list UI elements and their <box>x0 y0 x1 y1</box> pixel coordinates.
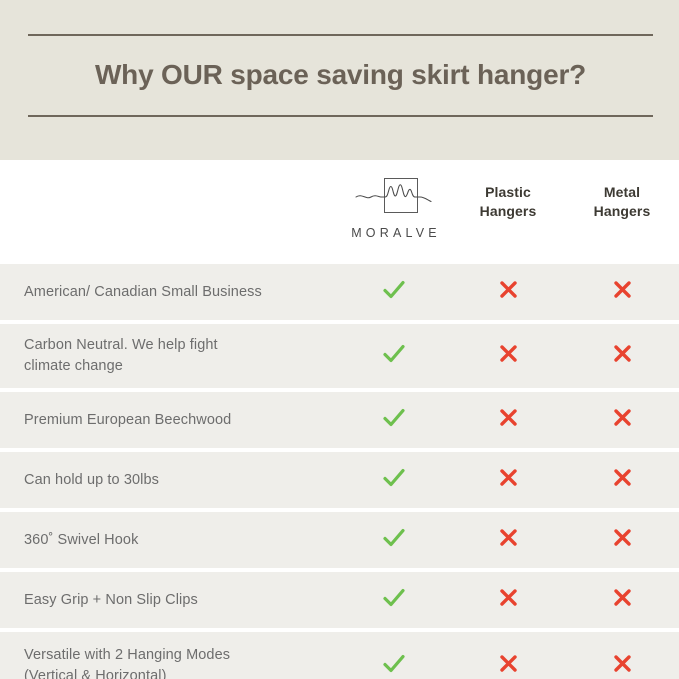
header-inner: Why OUR space saving skirt hanger? <box>28 34 653 130</box>
cross-icon <box>613 654 632 673</box>
column-header-plastic-label: Plastic Hangers <box>451 160 565 220</box>
cell-feature-row-2: Premium European Beechwood <box>0 410 337 431</box>
cross-icon <box>499 280 518 299</box>
cross-icon <box>613 468 632 487</box>
feature-label-3: Can hold up to 30lbs <box>0 470 337 491</box>
table-row: Carbon Neutral. We help fightclimate cha… <box>0 324 679 388</box>
cell-plastic-row-2 <box>451 408 565 432</box>
column-header-metal: Metal Hangers <box>565 160 679 220</box>
feature-line1-1: Carbon Neutral. We help fight <box>24 335 327 356</box>
cross-icon <box>613 408 632 427</box>
check-icon <box>383 528 405 548</box>
brand-wordmark: MORALVE <box>347 226 441 240</box>
moralve-square-wave-logo-icon <box>354 175 434 217</box>
feature-line1-5: Easy Grip + Non Slip Clips <box>24 590 327 611</box>
cell-feature-row-3: Can hold up to 30lbs <box>0 470 337 491</box>
table-row: 360˚ Swivel Hook <box>0 512 679 568</box>
cell-metal-row-1 <box>565 344 679 368</box>
feature-line1-0: American/ Canadian Small Business <box>24 282 327 303</box>
header-banner: Why OUR space saving skirt hanger? <box>0 0 679 160</box>
cross-icon <box>613 280 632 299</box>
comparison-chart-page: Why OUR space saving skirt hanger? MORAL… <box>0 0 679 679</box>
feature-label-0: American/ Canadian Small Business <box>0 282 337 303</box>
cell-metal-row-6 <box>565 654 679 678</box>
cross-icon <box>499 654 518 673</box>
brand-block: MORALVE <box>337 160 451 240</box>
check-icon <box>383 654 405 674</box>
cell-moralve-row-2 <box>337 408 451 433</box>
cell-metal-row-5 <box>565 588 679 612</box>
cell-feature-row-5: Easy Grip + Non Slip Clips <box>0 590 337 611</box>
check-icon <box>383 408 405 428</box>
header-bottom-rule <box>28 115 653 117</box>
feature-line1-2: Premium European Beechwood <box>24 410 327 431</box>
cell-plastic-row-0 <box>451 280 565 304</box>
cell-moralve-row-1 <box>337 344 451 369</box>
cell-metal-row-2 <box>565 408 679 432</box>
feature-line1-3: Can hold up to 30lbs <box>24 470 327 491</box>
cell-feature-row-6: Versatile with 2 Hanging Modes(Vertical … <box>0 645 337 679</box>
feature-label-1: Carbon Neutral. We help fightclimate cha… <box>0 335 337 376</box>
check-icon <box>383 588 405 608</box>
feature-line2-1: climate change <box>24 356 327 377</box>
column-header-metal-line1: Metal <box>565 183 679 202</box>
table-row: Easy Grip + Non Slip Clips <box>0 572 679 628</box>
cell-moralve-row-4 <box>337 528 451 553</box>
cell-metal-row-3 <box>565 468 679 492</box>
cell-moralve-row-0 <box>337 280 451 305</box>
feature-line2-6: (Vertical & Horizontal) <box>24 666 327 679</box>
cell-plastic-row-3 <box>451 468 565 492</box>
table-row: Versatile with 2 Hanging Modes(Vertical … <box>0 632 679 679</box>
comparison-table: MORALVE Plastic Hangers Metal Hangers Am… <box>0 160 679 679</box>
cell-metal-row-0 <box>565 280 679 304</box>
table-row: Premium European Beechwood <box>0 392 679 448</box>
cell-plastic-row-4 <box>451 528 565 552</box>
cell-moralve-row-5 <box>337 588 451 613</box>
check-icon <box>383 468 405 488</box>
cell-plastic-row-6 <box>451 654 565 678</box>
column-header-metal-label: Metal Hangers <box>565 160 679 220</box>
cross-icon <box>613 528 632 547</box>
cell-plastic-row-5 <box>451 588 565 612</box>
table-header-row: MORALVE Plastic Hangers Metal Hangers <box>0 160 679 264</box>
feature-label-5: Easy Grip + Non Slip Clips <box>0 590 337 611</box>
feature-line1-4: 360˚ Swivel Hook <box>24 530 327 551</box>
cross-icon <box>613 344 632 363</box>
feature-line1-6: Versatile with 2 Hanging Modes <box>24 645 327 666</box>
cell-moralve-row-3 <box>337 468 451 493</box>
cell-feature-row-0: American/ Canadian Small Business <box>0 282 337 303</box>
cross-icon <box>499 588 518 607</box>
column-header-plastic-line2: Hangers <box>451 202 565 221</box>
cell-plastic-row-1 <box>451 344 565 368</box>
table-row: American/ Canadian Small Business <box>0 264 679 320</box>
table-row: Can hold up to 30lbs <box>0 452 679 508</box>
page-title: Why OUR space saving skirt hanger? <box>28 61 653 89</box>
cross-icon <box>499 344 518 363</box>
cross-icon <box>499 528 518 547</box>
feature-label-4: 360˚ Swivel Hook <box>0 530 337 551</box>
check-icon <box>383 344 405 364</box>
feature-label-2: Premium European Beechwood <box>0 410 337 431</box>
cell-feature-row-4: 360˚ Swivel Hook <box>0 530 337 551</box>
column-header-plastic-line1: Plastic <box>451 183 565 202</box>
cross-icon <box>499 468 518 487</box>
cell-moralve-row-6 <box>337 654 451 679</box>
check-icon <box>383 280 405 300</box>
feature-label-6: Versatile with 2 Hanging Modes(Vertical … <box>0 645 337 679</box>
cell-metal-row-4 <box>565 528 679 552</box>
cross-icon <box>499 408 518 427</box>
cell-feature-row-1: Carbon Neutral. We help fightclimate cha… <box>0 335 337 376</box>
column-header-moralve: MORALVE <box>337 160 451 240</box>
table-body: American/ Canadian Small BusinessCarbon … <box>0 264 679 679</box>
column-header-plastic: Plastic Hangers <box>451 160 565 220</box>
cross-icon <box>613 588 632 607</box>
header-top-rule <box>28 34 653 36</box>
column-header-metal-line2: Hangers <box>565 202 679 221</box>
